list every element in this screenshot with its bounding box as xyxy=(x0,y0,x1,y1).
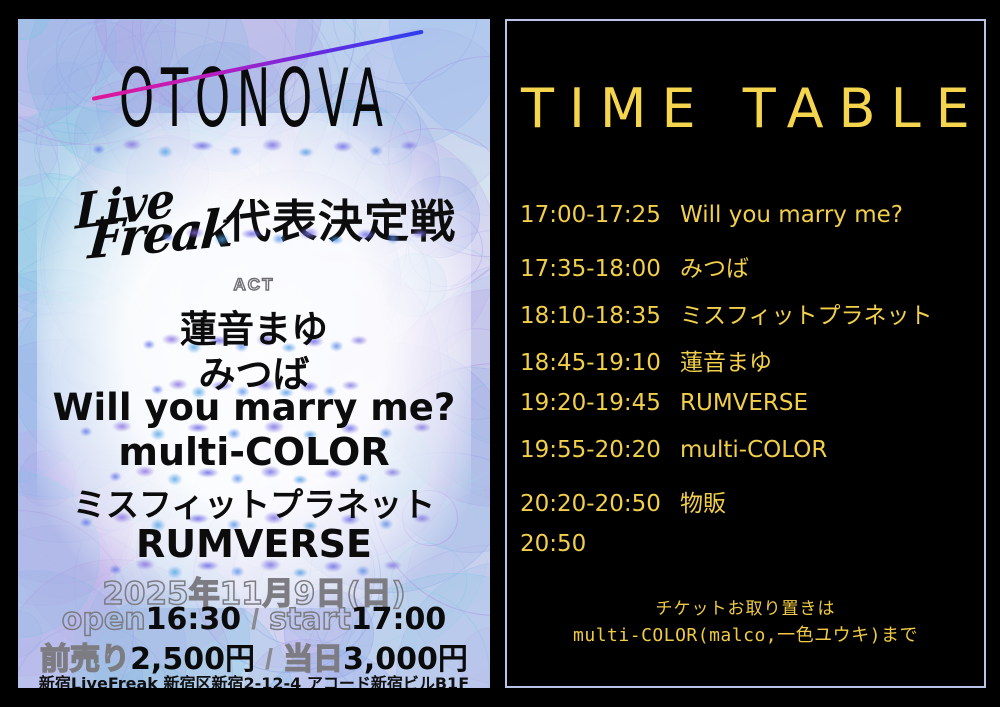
timetable-title: TIME TABLE xyxy=(521,77,985,140)
act-name-3: multi-COLOR xyxy=(18,430,490,474)
timetable-act-5: multi-COLOR xyxy=(680,437,827,463)
table-row: 19:55-20:20 multi-COLOR xyxy=(520,437,978,484)
timetable-time-1: 17:35-18:00 xyxy=(520,256,680,282)
open-start-line: open16:30/start17:00 xyxy=(18,602,490,637)
timetable-time-4: 19:20-19:45 xyxy=(520,390,680,416)
event-flyer: OTONOVA Live Freak 代表決定戦 ACT 蓮音まゆ みつば Wi… xyxy=(18,19,490,688)
timetable-time-5: 19:55-20:20 xyxy=(520,437,680,463)
timetable-act-0: Will you marry me? xyxy=(680,202,903,228)
act-name-2: Will you marry me? xyxy=(18,386,490,429)
start-label: start xyxy=(269,602,351,637)
venue-address: 新宿LiveFreak 新宿区新宿2-12-4 アコード新宿ビルB1F xyxy=(18,670,490,688)
timetable-panel: TIME TABLE 17:00-17:25 Will you marry me… xyxy=(505,19,986,688)
ticket-note-line1: チケットお取り置きは xyxy=(507,596,984,622)
table-row: 17:00-17:25 Will you marry me? xyxy=(520,202,978,249)
ticket-reservation-note: チケットお取り置きは multi-COLOR(malco,一色ユウキ)まで xyxy=(507,596,984,650)
flyer-subtitle: 代表決定戦 xyxy=(226,185,484,250)
timetable-act-2: ミスフィットプラネット xyxy=(680,296,933,330)
table-row: 17:35-18:00 みつば xyxy=(520,249,978,296)
page-title: OTONOVA xyxy=(119,62,390,136)
timetable-time-3: 18:45-19:10 xyxy=(520,350,680,376)
livefreak-logo: Live Freak xyxy=(70,181,245,255)
start-time: 17:00 xyxy=(351,602,447,637)
livefreak-logo-line2: Freak xyxy=(86,197,235,271)
act-name-4: ミスフィットプラネット xyxy=(18,478,490,526)
timetable-rows: 17:00-17:25 Will you marry me? 17:35-18:… xyxy=(520,202,978,578)
logo-and-subtitle-row: Live Freak 代表決定戦 xyxy=(18,179,490,257)
timetable-time-2: 18:10-18:35 xyxy=(520,303,680,329)
table-row: 19:20-19:45 RUMVERSE xyxy=(520,390,978,437)
otonova-title-wrap: OTONOVA xyxy=(18,62,490,136)
timetable-act-1: みつば xyxy=(680,249,749,283)
act-section-label: ACT xyxy=(18,275,490,295)
timetable-time-0: 17:00-17:25 xyxy=(520,202,680,228)
timetable-act-3: 蓮音まゆ xyxy=(680,343,772,377)
table-row: 20:50 xyxy=(520,531,978,578)
table-row: 18:45-19:10 蓮音まゆ xyxy=(520,343,978,390)
timetable-time-6: 20:20-20:50 xyxy=(520,491,680,517)
poster-canvas: OTONOVA Live Freak 代表決定戦 ACT 蓮音まゆ みつば Wi… xyxy=(0,0,1000,707)
open-time: 16:30 xyxy=(146,602,242,637)
time-separator: / xyxy=(241,604,269,636)
timetable-time-7: 20:50 xyxy=(520,531,680,557)
timetable-act-6: 物販 xyxy=(680,484,726,518)
open-label: open xyxy=(62,602,146,637)
ticket-note-line2: multi-COLOR(malco,一色ユウキ)まで xyxy=(507,622,984,650)
act-name-5: RUMVERSE xyxy=(18,522,490,566)
table-row: 18:10-18:35 ミスフィットプラネット xyxy=(520,296,978,343)
timetable-act-4: RUMVERSE xyxy=(680,390,808,416)
table-row: 20:20-20:50 物販 xyxy=(520,484,978,531)
